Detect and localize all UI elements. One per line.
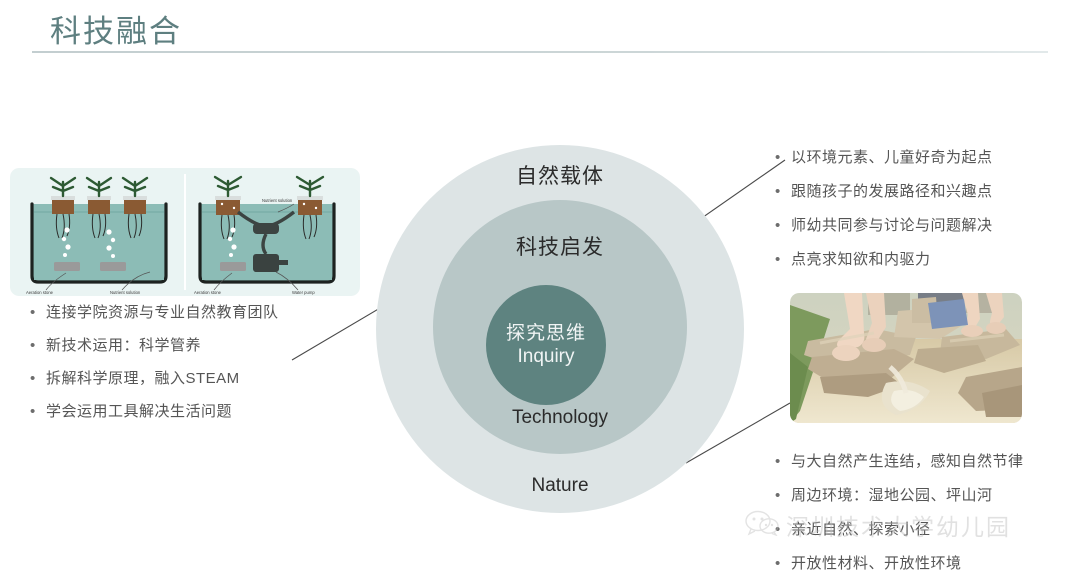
bullet-list-left: • 连接学院资源与专业自然教育团队 • 新技术运用：科学管养 • 拆解科学原理，… (30, 303, 279, 435)
list-item-text: 周边环境：湿地公园、坪山河 (791, 486, 993, 506)
bullet-marker: • (775, 148, 791, 168)
list-item: • 学会运用工具解决生活问题 (30, 402, 279, 422)
watermark-text: 深圳技术大学幼儿园 (786, 508, 1011, 542)
watermark: 深圳技术大学幼儿园 (745, 508, 1011, 542)
label-nature-cn: 自然载体 (376, 160, 744, 190)
bullet-marker: • (775, 182, 791, 202)
list-item-text: 以环境元素、儿童好奇为起点 (791, 148, 993, 168)
list-item-text: 师幼共同参与讨论与问题解决 (791, 216, 993, 236)
list-item-text: 拆解科学原理，融入STEAM (46, 369, 240, 389)
list-item: • 与大自然产生连结，感知自然节律 (775, 452, 1024, 472)
bullet-list-top-right: • 以环境元素、儿童好奇为起点 • 跟随孩子的发展路径和兴趣点 • 师幼共同参与… (775, 148, 993, 284)
concentric-circles-diagram: 自然载体 科技启发 Technology Nature 探究思维 Inquiry (376, 145, 744, 513)
header-divider (32, 51, 1048, 53)
list-item: • 拆解科学原理，融入STEAM (30, 369, 279, 389)
bullet-marker: • (775, 216, 791, 236)
nature-photo-figure (790, 293, 1022, 423)
list-item-text: 跟随孩子的发展路径和兴趣点 (791, 182, 993, 202)
page-title: 科技融合 (50, 6, 182, 51)
slide-root: 科技融合 自然载体 科技启发 Technology Nature 探究思维 In… (0, 0, 1080, 580)
list-item: • 周边环境：湿地公园、坪山河 (775, 486, 1024, 506)
bullet-marker: • (30, 369, 46, 389)
list-item: • 新技术运用：科学管养 (30, 336, 279, 356)
bullet-marker: • (775, 554, 791, 574)
wechat-icon (745, 510, 779, 541)
list-item-text: 新技术运用：科学管养 (46, 336, 201, 356)
label-nature-en: Nature (376, 475, 744, 497)
bullet-marker: • (30, 402, 46, 422)
bullet-marker: • (775, 452, 791, 472)
label-inquiry-cn: 探究思维 (506, 322, 586, 345)
hydroponics-figure: Aeration stone Nutrient solution (10, 168, 360, 296)
bullet-marker: • (30, 303, 46, 323)
svg-text:Aeration stone: Aeration stone (26, 290, 54, 295)
label-inquiry-en: Inquiry (517, 345, 574, 368)
list-item: • 以环境元素、儿童好奇为起点 (775, 148, 993, 168)
list-item-text: 与大自然产生连结，感知自然节律 (791, 452, 1024, 472)
bullet-marker: • (775, 250, 791, 270)
list-item: • 跟随孩子的发展路径和兴趣点 (775, 182, 993, 202)
list-item-text: 学会运用工具解决生活问题 (46, 402, 232, 422)
bullet-marker: • (30, 336, 46, 356)
list-item: • 点亮求知欲和内驱力 (775, 250, 993, 270)
bullet-marker: • (775, 486, 791, 506)
list-item-text: 点亮求知欲和内驱力 (791, 250, 931, 270)
list-item: • 师幼共同参与讨论与问题解决 (775, 216, 993, 236)
list-item: • 连接学院资源与专业自然教育团队 (30, 303, 279, 323)
core-label-group: 探究思维 Inquiry (486, 285, 606, 405)
svg-text:Water pump: Water pump (292, 290, 315, 295)
svg-text:Aeration stone: Aeration stone (194, 290, 222, 295)
svg-text:Nutrient solution: Nutrient solution (110, 290, 141, 295)
label-technology-en: Technology (376, 407, 744, 429)
list-item-text: 开放性材料、开放性环境 (791, 554, 962, 574)
list-item: • 开放性材料、开放性环境 (775, 554, 1024, 574)
label-technology-cn: 科技启发 (376, 231, 744, 261)
list-item-text: 连接学院资源与专业自然教育团队 (46, 303, 279, 323)
svg-text:Nutrient solution: Nutrient solution (262, 198, 293, 203)
